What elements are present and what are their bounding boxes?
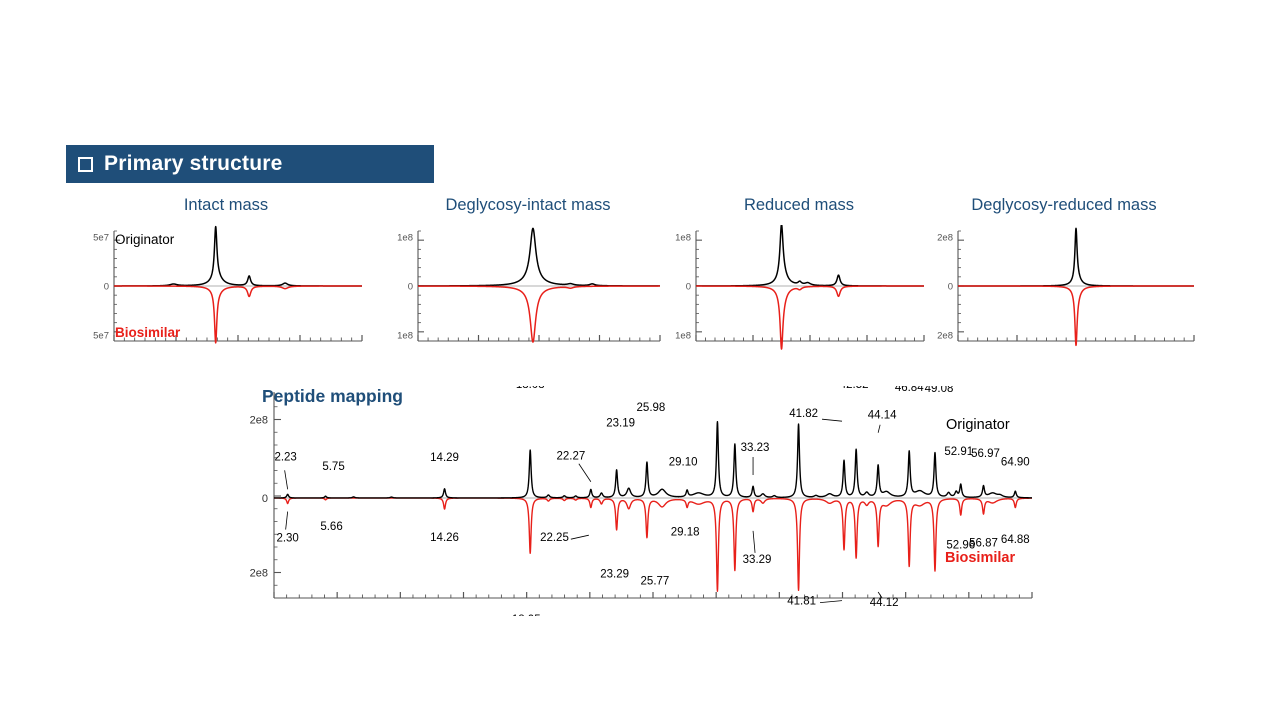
svg-text:0: 0 [104, 281, 109, 292]
legend-biosimilar: Biosimilar [115, 325, 180, 340]
svg-text:0: 0 [686, 281, 691, 292]
svg-text:64.88: 64.88 [1001, 534, 1030, 546]
legend-originator: Originator [946, 417, 1010, 433]
svg-text:5.66: 5.66 [320, 521, 342, 533]
svg-text:52.91: 52.91 [944, 446, 973, 458]
page-title: Primary structure [104, 152, 282, 176]
svg-text:29.10: 29.10 [669, 457, 698, 469]
svg-text:1e8: 1e8 [397, 330, 413, 341]
svg-text:2e8: 2e8 [937, 232, 953, 243]
panel-title: Intact mass [86, 196, 366, 215]
svg-text:41.82: 41.82 [789, 408, 818, 420]
svg-text:22.25: 22.25 [540, 532, 569, 544]
peptide-plot: 2e802e82.235.7514.2918.0822.2723.1925.98… [240, 386, 1040, 621]
svg-text:2e8: 2e8 [937, 330, 953, 341]
svg-text:0: 0 [262, 493, 268, 505]
mass-plot: 1e801e8 [392, 225, 664, 355]
svg-text:22.27: 22.27 [556, 451, 585, 463]
svg-text:56.97: 56.97 [971, 448, 1000, 460]
legend-biosimilar: Biosimilar [945, 550, 1015, 566]
svg-text:64.90: 64.90 [1001, 457, 1030, 469]
svg-text:1e8: 1e8 [397, 232, 413, 243]
mass-plot: 1e801e8 [670, 225, 928, 355]
peptide-plot-svg: 2e802e82.235.7514.2918.0822.2723.1925.98… [240, 386, 1040, 616]
mass-plot-svg-reduced: 1e801e8 [670, 225, 928, 355]
svg-text:44.12: 44.12 [870, 597, 899, 609]
panel-title: Reduced mass [670, 196, 928, 215]
svg-text:44.14: 44.14 [868, 410, 897, 422]
svg-text:25.98: 25.98 [637, 402, 666, 414]
svg-text:5e7: 5e7 [93, 330, 109, 341]
svg-text:5e7: 5e7 [93, 232, 109, 243]
svg-text:0: 0 [948, 281, 953, 292]
svg-text:33.23: 33.23 [741, 442, 770, 454]
svg-text:2.30: 2.30 [276, 533, 298, 545]
square-bullet-icon [78, 157, 93, 172]
svg-text:25.77: 25.77 [641, 576, 670, 588]
svg-text:2e8: 2e8 [250, 415, 268, 427]
panel-title: Deglycosy-reduced mass [930, 196, 1198, 215]
section-banner: Primary structure [66, 145, 434, 183]
svg-text:1e8: 1e8 [675, 232, 691, 243]
svg-text:42.52: 42.52 [840, 386, 869, 391]
svg-text:49.08: 49.08 [925, 386, 954, 395]
svg-text:41.81: 41.81 [787, 596, 816, 608]
svg-text:18.08: 18.08 [516, 386, 545, 391]
svg-text:29.18: 29.18 [671, 526, 700, 538]
mass-plot-svg-deglyco-intact: 1e801e8 [392, 225, 664, 355]
svg-text:2.23: 2.23 [274, 451, 296, 463]
mass-plot-svg-deglyco-reduced: 2e802e8 [930, 225, 1198, 355]
svg-text:1e8: 1e8 [675, 330, 691, 341]
svg-text:33.29: 33.29 [743, 554, 772, 566]
peptide-panel-title: Peptide mapping [262, 386, 403, 407]
svg-text:2e8: 2e8 [250, 568, 268, 580]
svg-text:46.84: 46.84 [895, 386, 924, 394]
legend-originator: Originator [115, 232, 174, 247]
svg-text:14.29: 14.29 [430, 452, 459, 464]
svg-text:0: 0 [408, 281, 413, 292]
svg-text:23.19: 23.19 [606, 417, 635, 429]
svg-text:18.05: 18.05 [512, 614, 541, 616]
svg-text:56.87: 56.87 [969, 538, 998, 550]
svg-text:23.29: 23.29 [600, 568, 629, 580]
svg-text:5.75: 5.75 [322, 461, 344, 473]
mass-plot: 2e802e8 [930, 225, 1198, 355]
panel-title: Deglycosy-intact mass [392, 196, 664, 215]
svg-text:14.26: 14.26 [430, 532, 459, 544]
